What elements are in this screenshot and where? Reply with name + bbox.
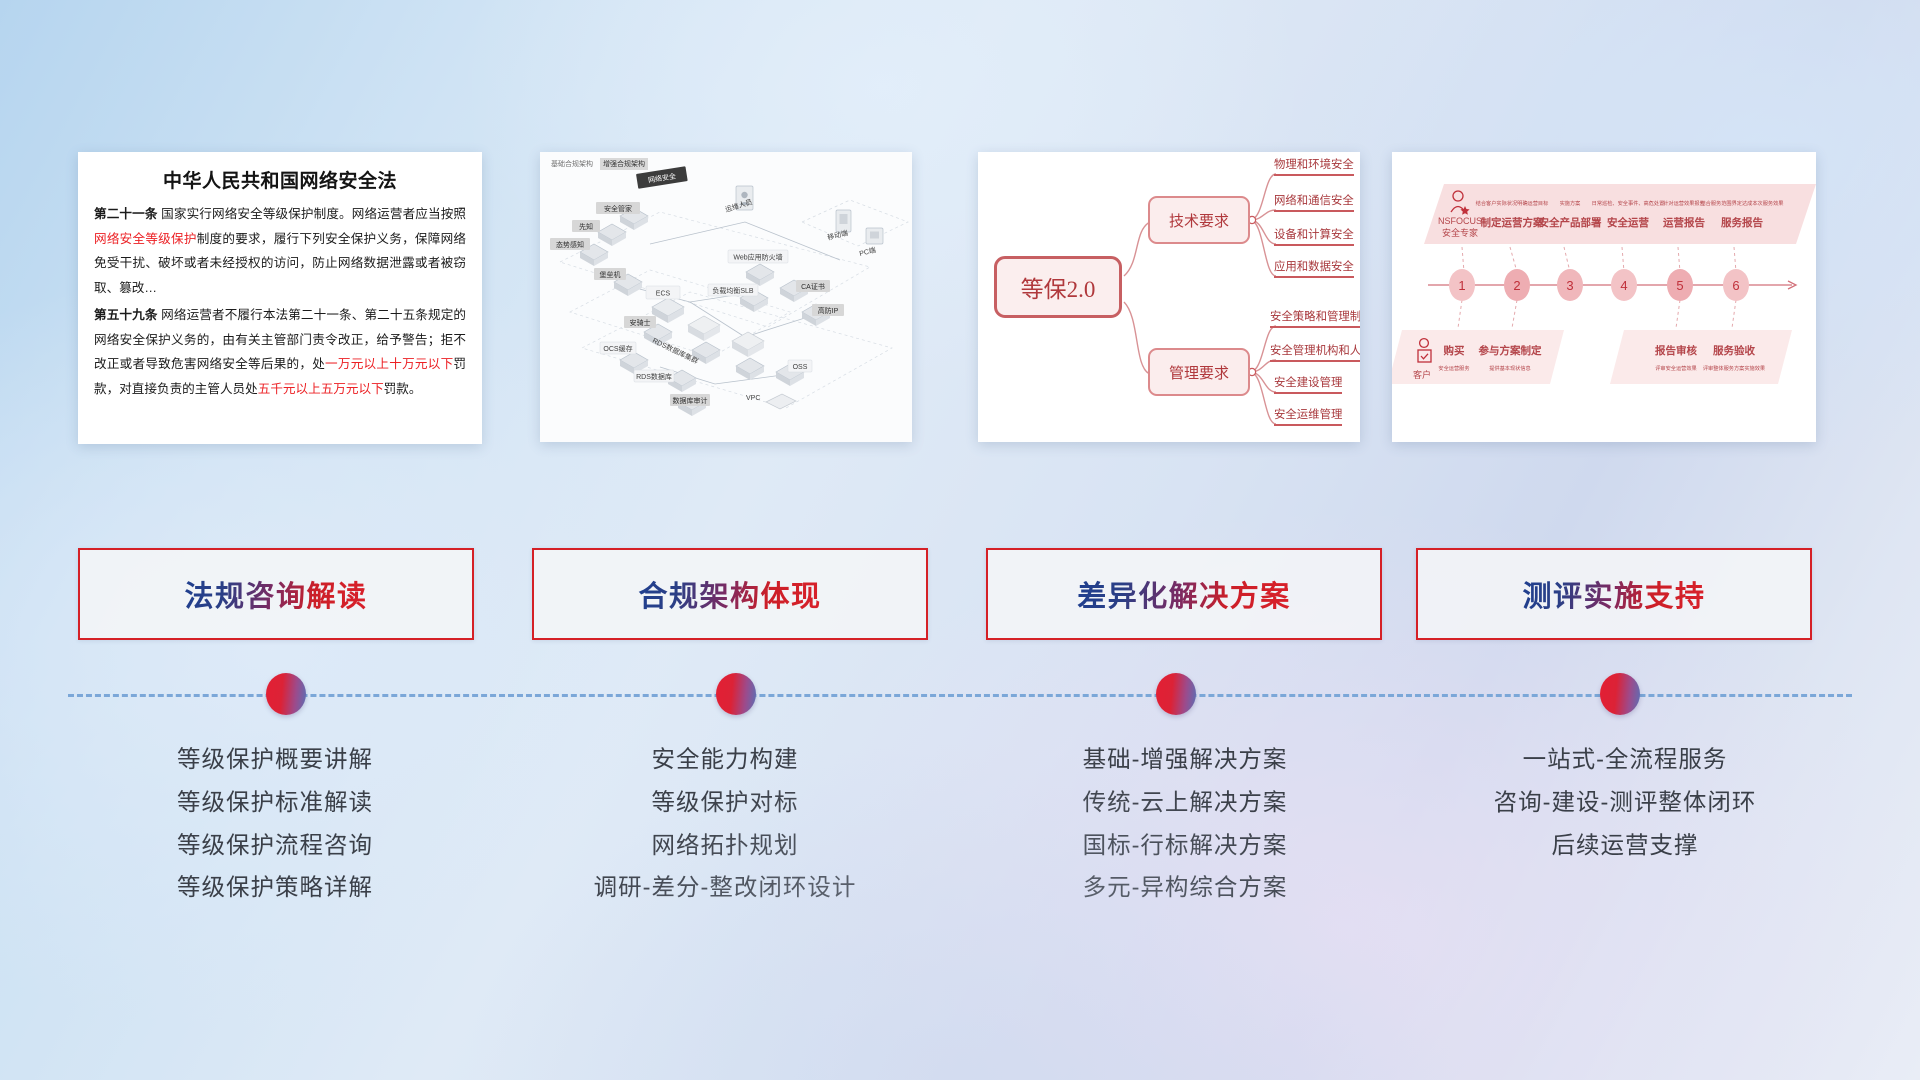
mindmap-leaf-label: 物理和环境安全 [1274, 156, 1354, 176]
svg-text:5: 5 [1676, 278, 1683, 293]
timeline-dot-4[interactable] [1600, 673, 1640, 715]
article-21-highlight: 网络安全等级保护 [94, 232, 197, 246]
article-59-highlight-2: 五千元以上五万元以下 [258, 382, 384, 396]
law-title: 中华人民共和国网络安全法 [94, 166, 466, 193]
list-item: 等级保护流程咨询 [60, 824, 490, 867]
mindmap-leaf-label: 安全建设管理 [1274, 374, 1342, 394]
nsfocus-canvas: 1 2 3 4 5 6 NSFOCUS 安全专家 [1392, 152, 1816, 442]
svg-text:运营报告: 运营报告 [1663, 216, 1705, 229]
svg-text:结合客户实际状况明确运营目标: 结合客户实际状况明确运营目标 [1476, 199, 1549, 207]
article-21-text-a: 国家实行网络安全等级保护制度。网络运营者应当按照 [158, 207, 466, 221]
card-service-timeline[interactable]: 1 2 3 4 5 6 NSFOCUS 安全专家 [1392, 152, 1816, 442]
mindmap-leaf[interactable]: 网络和通信安全 [1274, 192, 1354, 212]
timeline-dot-2[interactable] [716, 673, 756, 715]
mindmap-leaf-label: 安全管理机构和人员 [1270, 342, 1360, 362]
preview-cards-row: 中华人民共和国网络安全法 第二十一条 国家实行网络安全等级保护制度。网络运营者应… [0, 152, 1920, 442]
mindmap-branch-technical[interactable]: 技术要求 [1148, 196, 1250, 244]
header-label: 法规咨询解读 [184, 573, 367, 615]
mindmap-leaf[interactable]: 安全建设管理 [1274, 374, 1342, 394]
mindmap-leaf-label: 应用和数据安全 [1274, 258, 1354, 278]
svg-text:PC端: PC端 [858, 245, 876, 258]
nsfocus-timeline: 1 2 3 4 5 6 NSFOCUS 安全专家 [1392, 152, 1816, 442]
card-cybersecurity-law[interactable]: 中华人民共和国网络安全法 第二十一条 国家实行网络安全等级保护制度。网络运营者应… [78, 152, 482, 444]
mindmap-leaf[interactable]: 应用和数据安全 [1274, 258, 1354, 278]
list-item: 等级保护标准解读 [60, 781, 490, 824]
svg-text:负载均衡SLB: 负载均衡SLB [712, 286, 754, 295]
svg-text:安全产品部署: 安全产品部署 [1539, 216, 1602, 229]
svg-text:评审安全运营效果: 评审安全运营效果 [1655, 364, 1697, 372]
svg-text:6: 6 [1732, 278, 1739, 293]
card-compliance-architecture[interactable]: 基础合规架构 增强合规架构 [540, 152, 912, 442]
svg-text:服务报告: 服务报告 [1721, 216, 1763, 229]
list-item: 网络拓扑规划 [500, 824, 950, 867]
mindmap-leaf-label: 安全策略和管理制度 [1270, 308, 1360, 328]
header-box-compliance-architecture[interactable]: 合规架构体现 [532, 548, 928, 640]
list-item: 传统-云上解决方案 [960, 781, 1410, 824]
header-box-differentiated-solution[interactable]: 差异化解决方案 [986, 548, 1382, 640]
detail-column-3: 基础-增强解决方案 传统-云上解决方案 国标-行标解决方案 多元-异构综合方案 [960, 738, 1410, 909]
architecture-canvas: 网络安全 安全管家 先知 态势感知 运维人员 堡垒机 ECS Web应用防火墙 … [540, 152, 912, 442]
article-59-label: 第五十九条 [94, 308, 158, 322]
svg-text:3: 3 [1566, 278, 1573, 293]
svg-text:针对运营效果报告: 针对运营效果报告 [1663, 199, 1705, 207]
list-item: 一站式-全流程服务 [1400, 738, 1850, 781]
svg-text:结合服务范围界定达成本次服务效果: 结合服务范围界定达成本次服务效果 [1700, 199, 1783, 207]
svg-text:客户: 客户 [1413, 369, 1431, 380]
list-item: 等级保护对标 [500, 781, 950, 824]
section-headers-row: 法规咨询解读 合规架构体现 差异化解决方案 测评实施支持 [0, 548, 1920, 640]
mindmap-leaf-label: 安全运维管理 [1274, 406, 1342, 426]
svg-text:评审整体服务方案实施效果: 评审整体服务方案实施效果 [1703, 364, 1765, 372]
svg-text:安骑士: 安骑士 [630, 318, 651, 327]
svg-text:Web应用防火墙: Web应用防火墙 [733, 252, 782, 261]
timeline-dot-3[interactable] [1156, 673, 1196, 715]
svg-text:4: 4 [1620, 278, 1627, 293]
svg-text:堡垒机: 堡垒机 [600, 270, 621, 279]
detail-column-1: 等级保护概要讲解 等级保护标准解读 等级保护流程咨询 等级保护策略详解 [60, 738, 490, 909]
svg-text:安全运营: 安全运营 [1607, 216, 1649, 229]
mindmap-leaf[interactable]: 安全运维管理 [1274, 406, 1342, 426]
svg-text:RDS数据库: RDS数据库 [636, 372, 672, 381]
list-item: 多元-异构综合方案 [960, 866, 1410, 909]
timeline-track [68, 694, 1852, 698]
svg-text:数据库审计: 数据库审计 [673, 396, 708, 405]
mindmap-leaf[interactable]: 物理和环境安全 [1274, 156, 1354, 176]
article-59-text-c: 罚款。 [384, 382, 422, 396]
mindmap-branch-management[interactable]: 管理要求 [1148, 348, 1250, 396]
law-article-21: 第二十一条 国家实行网络安全等级保护制度。网络运营者应当按照网络安全等级保护制度… [94, 202, 466, 300]
list-item: 等级保护概要讲解 [60, 738, 490, 781]
article-59-highlight-1: 一万元以上十万元以下 [325, 357, 453, 371]
svg-text:OSS: OSS [793, 364, 808, 371]
mindmap-leaf-label: 设备和计算安全 [1274, 226, 1354, 246]
mindmap-leaf[interactable]: 安全策略和管理制度 [1270, 308, 1360, 328]
law-article-59: 第五十九条 网络运营者不履行本法第二十一条、第二十五条规定的网络安全保护义务的，… [94, 303, 466, 401]
svg-text:1: 1 [1458, 278, 1465, 293]
svg-text:态势感知: 态势感知 [556, 240, 584, 249]
svg-text:安全管家: 安全管家 [604, 204, 632, 213]
detail-column-4: 一站式-全流程服务 咨询-建设-测评整体闭环 后续运营支撑 [1400, 738, 1850, 866]
list-item: 安全能力构建 [500, 738, 950, 781]
svg-text:提供基本现状信息: 提供基本现状信息 [1489, 364, 1531, 372]
mindmap-root-node[interactable]: 等保2.0 [994, 256, 1122, 318]
svg-text:日常巡检、安全事件、高危处置: 日常巡检、安全事件、高危处置 [1592, 199, 1665, 207]
mindmap-leaf[interactable]: 设备和计算安全 [1274, 226, 1354, 246]
list-item: 后续运营支撑 [1400, 824, 1850, 867]
svg-text:2: 2 [1513, 278, 1520, 293]
expert-band [1424, 184, 1816, 244]
mindmap-leaf-label: 网络和通信安全 [1274, 192, 1354, 212]
customer-band-right [1610, 330, 1792, 384]
architecture-dark-chip: 网络安全 [636, 166, 688, 189]
svg-text:VPC: VPC [746, 395, 760, 402]
header-label: 合规架构体现 [638, 573, 821, 615]
law-document: 中华人民共和国网络安全法 第二十一条 国家实行网络安全等级保护制度。网络运营者应… [78, 152, 482, 411]
mindmap-diagram: 等保2.0 技术要求 管理要求 物理和环境安全 网络和通信安全 设备和计算安全 … [978, 152, 1360, 442]
list-item: 咨询-建设-测评整体闭环 [1400, 781, 1850, 824]
detail-column-2: 安全能力构建 等级保护对标 网络拓扑规划 调研-差分-整改闭环设计 [500, 738, 950, 909]
header-label: 差异化解决方案 [1077, 573, 1291, 615]
list-item: 基础-增强解决方案 [960, 738, 1410, 781]
svg-text:购买: 购买 [1444, 344, 1466, 357]
list-item: 国标-行标解决方案 [960, 824, 1410, 867]
svg-text:OCS缓存: OCS缓存 [603, 344, 632, 353]
architecture-diagram: 基础合规架构 增强合规架构 [540, 152, 912, 442]
svg-text:报告审核: 报告审核 [1655, 344, 1697, 357]
detail-columns-row: 等级保护概要讲解 等级保护标准解读 等级保护流程咨询 等级保护策略详解 安全能力… [0, 738, 1920, 1038]
article-21-label: 第二十一条 [94, 207, 158, 221]
svg-text:服务验收: 服务验收 [1713, 344, 1755, 357]
list-item: 调研-差分-整改闭环设计 [500, 866, 950, 909]
svg-text:ECS: ECS [656, 290, 671, 297]
timeline-dashed-line [68, 694, 1852, 697]
timeline-dot-1[interactable] [266, 673, 306, 715]
card-mindmap-dengbao[interactable]: 等保2.0 技术要求 管理要求 物理和环境安全 网络和通信安全 设备和计算安全 … [978, 152, 1360, 442]
svg-text:实施方案: 实施方案 [1560, 199, 1582, 207]
mindmap-leaf[interactable]: 安全管理机构和人员 [1270, 342, 1360, 362]
header-box-assessment-support[interactable]: 测评实施支持 [1416, 548, 1812, 640]
svg-text:安全专家: 安全专家 [1442, 227, 1478, 238]
svg-text:参与方案制定: 参与方案制定 [1479, 344, 1542, 357]
svg-text:CA证书: CA证书 [801, 282, 825, 291]
svg-text:安全运营服务: 安全运营服务 [1438, 364, 1469, 372]
svg-text:制定运营方案: 制定运营方案 [1481, 216, 1544, 229]
svg-text:先知: 先知 [579, 222, 593, 231]
svg-text:NSFOCUS: NSFOCUS [1438, 216, 1482, 226]
header-label: 测评实施支持 [1522, 573, 1705, 615]
header-box-regulation-consulting[interactable]: 法规咨询解读 [78, 548, 474, 640]
svg-text:高防IP: 高防IP [818, 306, 839, 315]
list-item: 等级保护策略详解 [60, 866, 490, 909]
